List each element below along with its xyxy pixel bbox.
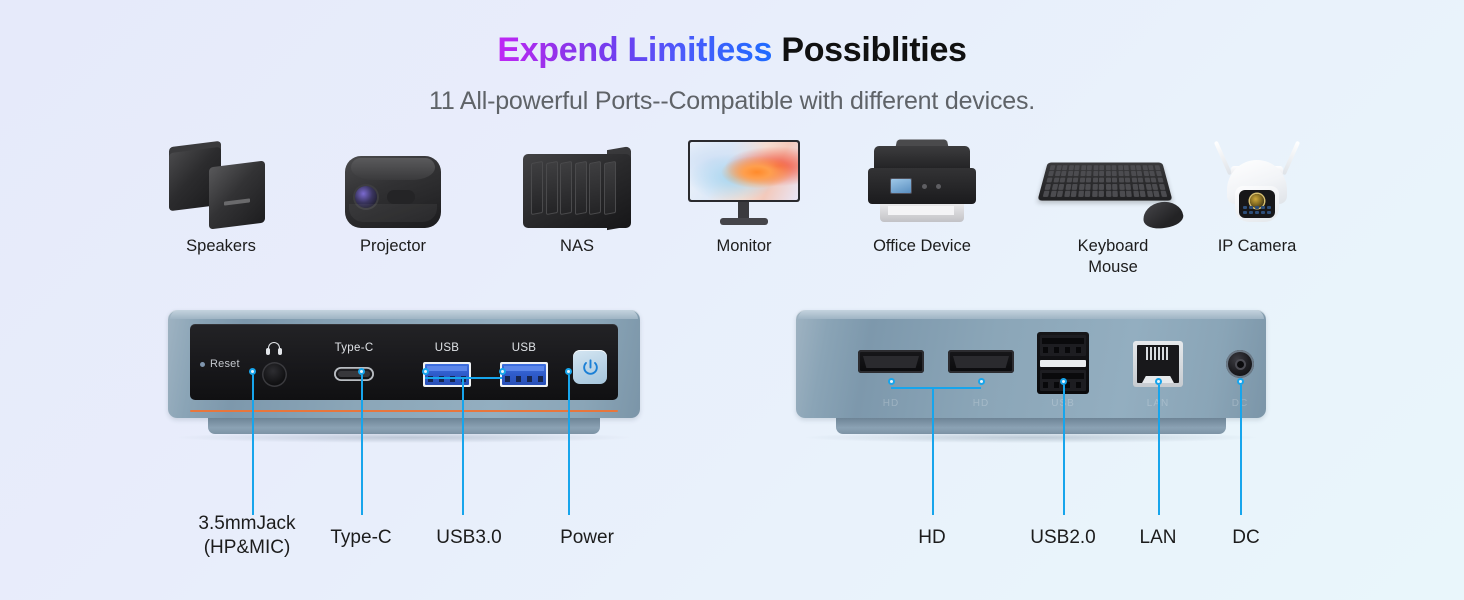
device-nas: NAS <box>506 136 648 257</box>
callout-label-headphone: 3.5mmJack (HP&MIC) <box>178 512 316 560</box>
nas-icon <box>506 136 648 228</box>
dc-power-port[interactable] <box>1226 350 1254 378</box>
printer-icon <box>851 136 993 228</box>
dc-etched-label: DC <box>1220 398 1260 409</box>
page-subtitle: 11 All-powerful Ports--Compatible with d… <box>0 87 1464 116</box>
device-label: IP Camera <box>1186 236 1328 257</box>
front-drop-shadow <box>178 432 630 443</box>
headphone-icon <box>266 342 282 355</box>
callout-label-dc: DC <box>1200 526 1292 550</box>
device-ip-camera: IP Camera <box>1186 136 1328 257</box>
callout-label-typec: Type-C <box>302 526 420 550</box>
rear-drop-shadow <box>806 432 1256 443</box>
device-label: Keyboard Mouse <box>1042 236 1184 279</box>
callout-label-usb2: USB2.0 <box>1002 526 1124 550</box>
orange-accent-stripe <box>190 410 618 412</box>
reset-indicator[interactable]: Reset <box>200 358 240 370</box>
power-glyph-icon <box>581 358 600 377</box>
usb3-port-left[interactable] <box>423 362 471 387</box>
callout-label-lan: LAN <box>1108 526 1208 550</box>
device-keyboard-mouse: Keyboard Mouse <box>1042 136 1184 279</box>
ip-camera-icon <box>1186 136 1328 228</box>
title-gradient-text: Expend Limitless <box>497 31 772 69</box>
usb-left-label: USB <box>420 342 474 354</box>
hdmi-1-etched-label: HD <box>858 398 924 409</box>
device-office: Office Device <box>851 136 993 257</box>
callout-label-usb3: USB3.0 <box>405 526 533 550</box>
lan-port[interactable] <box>1133 341 1183 387</box>
headphone-jack-port[interactable] <box>262 362 287 387</box>
rear-chassis-top-edge <box>798 310 1264 319</box>
device-label: Speakers <box>150 236 292 257</box>
front-io-panel: Reset Type-C USB USB <box>190 324 618 400</box>
compatible-devices-row: Speakers Projector NAS Monitor Offic <box>0 136 1464 286</box>
reset-label: Reset <box>210 358 240 370</box>
projector-icon <box>322 136 464 228</box>
device-label: Monitor <box>673 236 815 257</box>
usb3-port-right[interactable] <box>500 362 548 387</box>
reset-dot-icon <box>200 362 205 367</box>
device-projector: Projector <box>322 136 464 257</box>
header: Expend Limitless Possiblities 11 All-pow… <box>0 0 1464 116</box>
device-speakers: Speakers <box>150 136 292 257</box>
mini-pc-rear-unit: HD HD USB LAN DC <box>796 310 1266 440</box>
monitor-icon <box>673 136 815 228</box>
speakers-icon <box>150 136 292 228</box>
hdmi-2-etched-label: HD <box>948 398 1014 409</box>
mini-pc-front-unit: Reset Type-C USB USB <box>168 310 640 440</box>
front-chassis-top-edge <box>170 310 638 319</box>
power-button[interactable] <box>573 350 607 384</box>
callout-label-hd: HD <box>872 526 992 550</box>
usb2-dual-port[interactable] <box>1037 332 1089 394</box>
usb2-etched-label: USB <box>1034 398 1092 409</box>
device-label: Office Device <box>851 236 993 257</box>
callout-label-power: Power <box>524 526 650 550</box>
keyboard-mouse-icon <box>1042 136 1184 228</box>
device-label: Projector <box>322 236 464 257</box>
type-c-port[interactable] <box>334 367 374 381</box>
usb-right-label: USB <box>497 342 551 354</box>
title-plain-text: Possiblities <box>781 31 966 69</box>
hdmi-port-2[interactable] <box>948 350 1014 373</box>
page-title: Expend Limitless Possiblities <box>0 30 1464 71</box>
device-label: NAS <box>506 236 648 257</box>
typec-port-label: Type-C <box>324 342 384 354</box>
lan-etched-label: LAN <box>1128 398 1188 409</box>
device-monitor: Monitor <box>673 136 815 257</box>
hdmi-port-1[interactable] <box>858 350 924 373</box>
